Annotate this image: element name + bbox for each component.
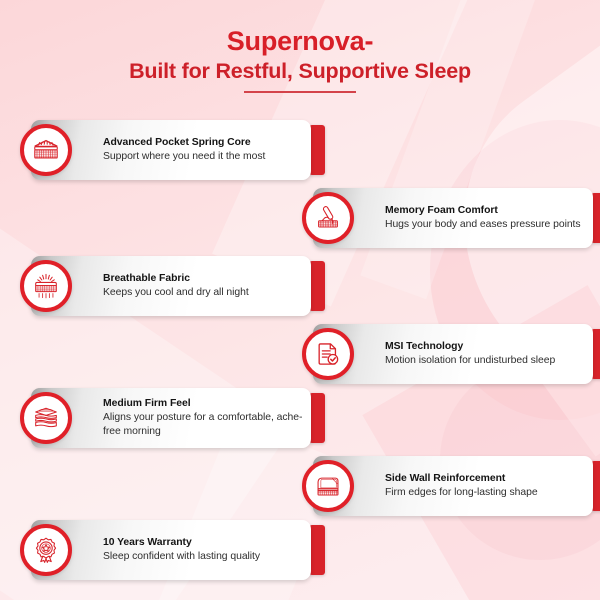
feature-card-body: Breathable FabricKeeps you cool and dry … <box>31 256 311 316</box>
feature-card: Side Wall ReinforcementFirm edges for lo… <box>313 456 600 516</box>
pocket-spring-mattress-icon <box>20 124 72 176</box>
feature-title: MSI Technology <box>385 341 585 354</box>
feature-card: Memory Foam ComfortHugs your body and ea… <box>313 188 600 248</box>
document-checkmark-icon <box>302 328 354 380</box>
feature-card-body: Memory Foam ComfortHugs your body and ea… <box>313 188 593 248</box>
feature-card-text: Breathable FabricKeeps you cool and dry … <box>31 273 311 300</box>
feature-card-body: 10 Years WarrantySleep confident with la… <box>31 520 311 580</box>
card-accent-bar <box>309 525 325 575</box>
feature-card: Advanced Pocket Spring CoreSupport where… <box>31 120 321 180</box>
feature-description: Aligns your posture for a comfortable, a… <box>103 411 303 438</box>
feature-title: Medium Firm Feel <box>103 398 303 411</box>
feature-card: Medium Firm FeelAligns your posture for … <box>31 388 321 448</box>
warranty-badge-rosette-icon <box>20 524 72 576</box>
feature-card-text: Memory Foam ComfortHugs your body and ea… <box>313 205 593 232</box>
feature-card-text: MSI TechnologyMotion isolation for undis… <box>313 341 593 368</box>
feature-card-body: MSI TechnologyMotion isolation for undis… <box>313 324 593 384</box>
feature-description: Keeps you cool and dry all night <box>103 286 303 299</box>
airflow-mattress-icon <box>20 260 72 312</box>
feature-card: 10 Years WarrantySleep confident with la… <box>31 520 321 580</box>
feature-title: 10 Years Warranty <box>103 537 303 550</box>
card-accent-bar <box>309 393 325 443</box>
card-accent-bar <box>309 261 325 311</box>
feature-card-text: Medium Firm FeelAligns your posture for … <box>31 398 311 438</box>
feature-card-text: Side Wall ReinforcementFirm edges for lo… <box>313 473 593 500</box>
feature-card-text: 10 Years WarrantySleep confident with la… <box>31 537 311 564</box>
feature-description: Motion isolation for undisturbed sleep <box>385 354 585 367</box>
feature-card-body: Advanced Pocket Spring CoreSupport where… <box>31 120 311 180</box>
feature-card-list: Advanced Pocket Spring CoreSupport where… <box>0 0 600 600</box>
feature-card-body: Medium Firm FeelAligns your posture for … <box>31 388 311 448</box>
feature-title: Advanced Pocket Spring Core <box>103 137 303 150</box>
feature-description: Sleep confident with lasting quality <box>103 550 303 563</box>
feature-card: Breathable FabricKeeps you cool and dry … <box>31 256 321 316</box>
feature-description: Hugs your body and eases pressure points <box>385 218 585 231</box>
feature-title: Side Wall Reinforcement <box>385 473 585 486</box>
mattress-side-wall-icon <box>302 460 354 512</box>
feature-description: Support where you need it the most <box>103 150 303 163</box>
feature-title: Breathable Fabric <box>103 273 303 286</box>
card-accent-bar <box>309 125 325 175</box>
feature-card-body: Side Wall ReinforcementFirm edges for lo… <box>313 456 593 516</box>
layered-foam-stack-icon <box>20 392 72 444</box>
feature-card: MSI TechnologyMotion isolation for undis… <box>313 324 600 384</box>
feature-description: Firm edges for long-lasting shape <box>385 486 585 499</box>
hand-pressing-foam-icon <box>302 192 354 244</box>
feature-title: Memory Foam Comfort <box>385 205 585 218</box>
feature-card-text: Advanced Pocket Spring CoreSupport where… <box>31 137 311 164</box>
